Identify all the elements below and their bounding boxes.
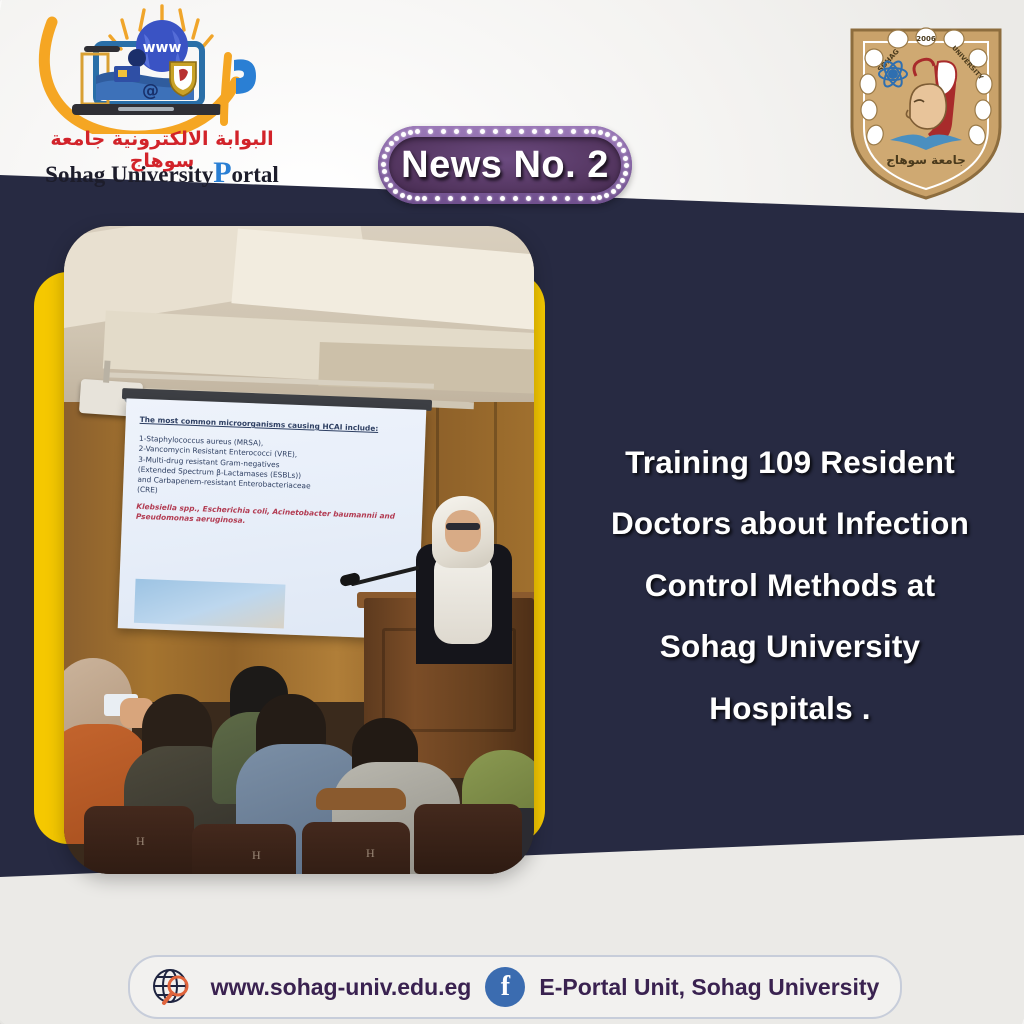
brand-english-name: Sohag UniversityPortal bbox=[22, 156, 302, 190]
news-headline: Training 109 Resident Doctors about Infe… bbox=[570, 432, 1010, 739]
sohag-portal-logo: www @ البوابة الالكترونية جامعة سوهاج So… bbox=[22, 4, 302, 194]
globe-search-svg bbox=[151, 965, 197, 1009]
poster-canvas: www @ البوابة الالكترونية جامعة سوهاج So… bbox=[0, 0, 1024, 1024]
facebook-page-name[interactable]: E-Portal Unit, Sohag University bbox=[539, 974, 879, 1001]
logo-at-symbol: @ bbox=[142, 81, 159, 101]
logo-www-text: www bbox=[143, 40, 182, 56]
photo-seat-mark: H bbox=[252, 848, 261, 863]
photo-speaker-face bbox=[445, 510, 481, 552]
badge-label: News No. 2 bbox=[401, 144, 609, 187]
crest-svg: 2006 SOHAG UNIVERSITY جامعة سوهاج bbox=[838, 14, 1014, 204]
facebook-glyph: f bbox=[501, 971, 510, 1003]
brand-portal-initial: P bbox=[213, 156, 231, 189]
headline-line: Control Methods at bbox=[570, 555, 1010, 616]
brand-portal-rest: ortal bbox=[232, 162, 279, 187]
brand-english-text: Sohag University bbox=[45, 162, 213, 187]
portal-logo-icon: www @ bbox=[22, 4, 302, 134]
photo-seat-mark: H bbox=[136, 834, 145, 849]
globe-search-icon bbox=[151, 965, 197, 1009]
news-number-badge: News No. 2 bbox=[378, 126, 632, 204]
photo-seat bbox=[414, 804, 522, 874]
website-url[interactable]: www.sohag-univ.edu.eg bbox=[211, 974, 472, 1001]
slide-decorative-image bbox=[134, 579, 286, 629]
photo-slide-content: The most common microorganisms causing H… bbox=[136, 415, 416, 532]
slide-item: (CRE) bbox=[137, 485, 158, 495]
portal-logo-svg: www @ bbox=[22, 4, 302, 134]
headline-line: Doctors about Infection bbox=[570, 493, 1010, 554]
headline-line: Sohag University bbox=[570, 616, 1010, 677]
facebook-icon[interactable]: f bbox=[485, 967, 525, 1007]
event-photo: The most common microorganisms causing H… bbox=[64, 226, 534, 874]
headline-line: Training 109 Resident bbox=[570, 432, 1010, 493]
photo-seat bbox=[302, 822, 410, 874]
crest-year: 2006 bbox=[916, 35, 936, 43]
footer-bar: www.sohag-univ.edu.eg f E-Portal Unit, S… bbox=[128, 955, 902, 1019]
badge-inner-plate: News No. 2 bbox=[389, 137, 621, 193]
photo-seat bbox=[316, 788, 406, 810]
slide-italic-note: Klebsiella spp., Escherichia coli, Acine… bbox=[136, 501, 413, 532]
event-photo-scene: The most common microorganisms causing H… bbox=[64, 226, 534, 874]
photo-speaker-glasses bbox=[446, 523, 480, 530]
slide-title: The most common microorganisms causing H… bbox=[140, 415, 416, 436]
photo-seat-mark: H bbox=[366, 846, 375, 861]
headline-line: Hospitals . bbox=[570, 678, 1010, 739]
sohag-university-crest: 2006 SOHAG UNIVERSITY جامعة سوهاج bbox=[838, 14, 1014, 204]
photo-seat bbox=[192, 824, 296, 874]
crest-arabic-caption: جامعة سوهاج bbox=[886, 153, 966, 168]
